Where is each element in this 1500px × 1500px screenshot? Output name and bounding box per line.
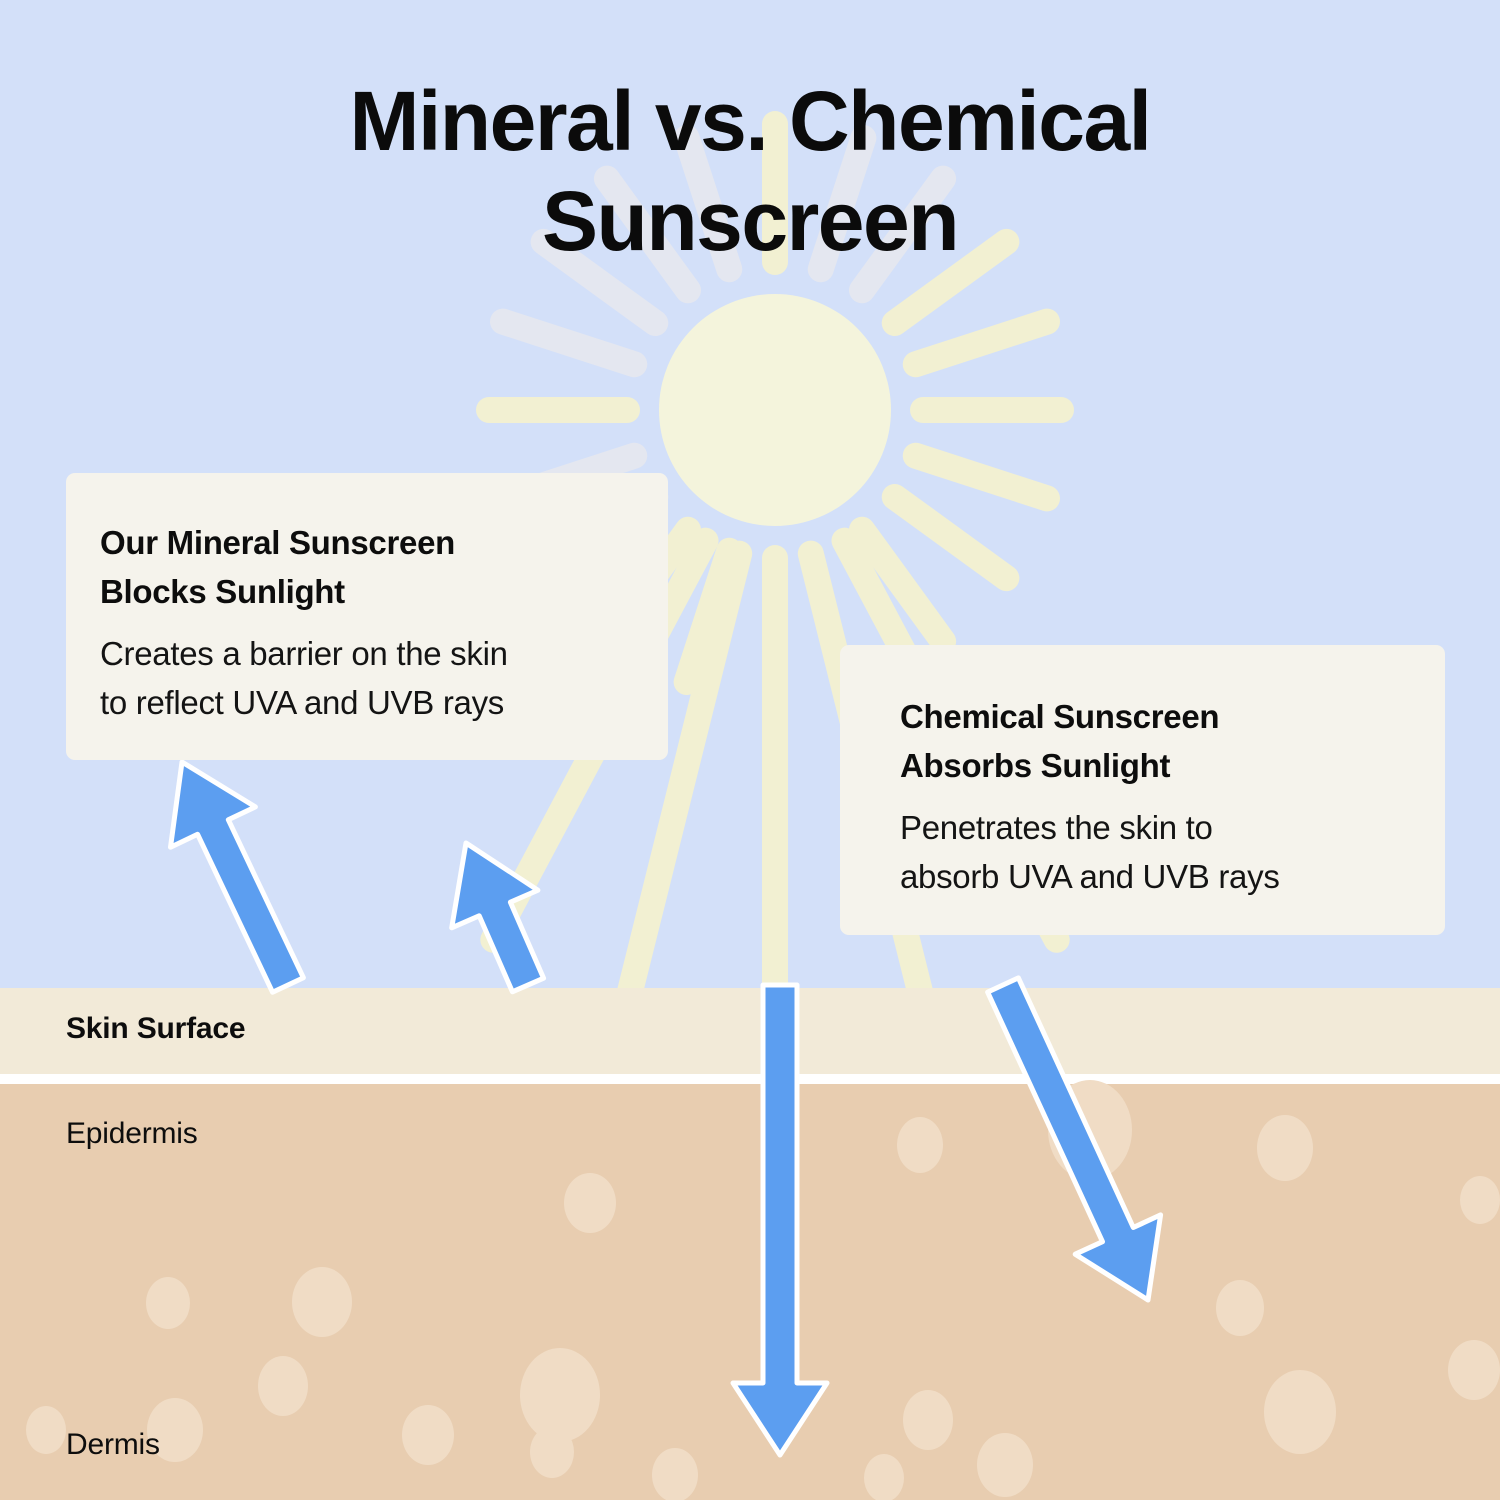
callout-mineral-body: Creates a barrier on the skin to reflect…	[100, 629, 632, 727]
layer-label-skin-surface: Skin Surface	[66, 1012, 245, 1046]
sun-icon	[659, 294, 891, 526]
infographic-canvas: Mineral vs. Chemical Sunscreen Our Miner…	[0, 0, 1500, 1500]
callout-chemical-body: Penetrates the skin to absorb UVA and UV…	[900, 803, 1415, 901]
callout-mineral-title: Our Mineral Sunscreen Blocks Sunlight	[100, 519, 632, 617]
layer-label-dermis: Dermis	[66, 1428, 160, 1462]
layer-label-epidermis: Epidermis	[66, 1117, 198, 1151]
callout-chemical-title: Chemical Sunscreen Absorbs Sunlight	[900, 693, 1415, 791]
layer-divider	[0, 1074, 1500, 1084]
callout-mineral-sunscreen: Our Mineral Sunscreen Blocks Sunlight Cr…	[66, 473, 668, 760]
page-title: Mineral vs. Chemical Sunscreen	[230, 72, 1270, 272]
callout-chemical-sunscreen: Chemical Sunscreen Absorbs Sunlight Pene…	[840, 645, 1445, 935]
